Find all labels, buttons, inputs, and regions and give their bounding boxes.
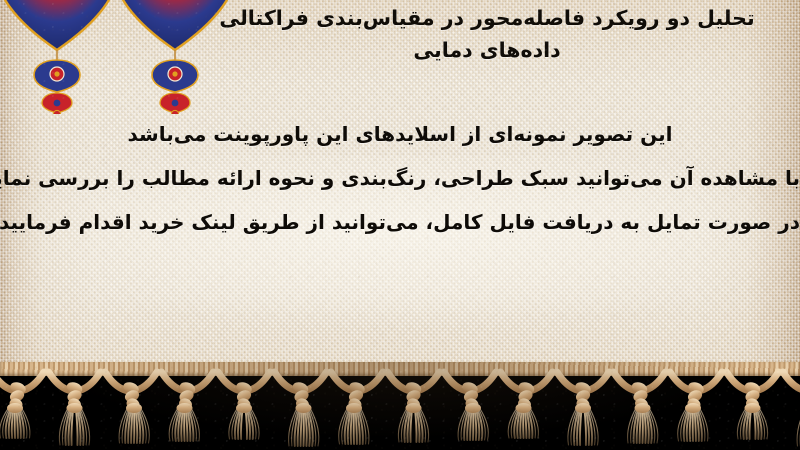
body-line-1: این تصویر نمونه‌ای از اسلایدهای این پاور… [0, 112, 800, 156]
slide-canvas: تحلیل دو رویکرد فاصله‌محور در مقیاس‌بندی… [0, 0, 800, 450]
body-line-3: در صورت تمایل به دریافت فایل کامل، می‌تو… [0, 200, 800, 244]
tassel-row-icon [0, 362, 800, 450]
carpet-fringe [0, 362, 800, 450]
slide-body-text: این تصویر نمونه‌ای از اسلایدهای این پاور… [0, 112, 800, 244]
body-line-2: با مشاهده آن می‌توانید سبک طراحی، رنگ‌بن… [0, 156, 800, 200]
slide-title: تحلیل دو رویکرد فاصله‌محور در مقیاس‌بندی… [180, 2, 794, 66]
